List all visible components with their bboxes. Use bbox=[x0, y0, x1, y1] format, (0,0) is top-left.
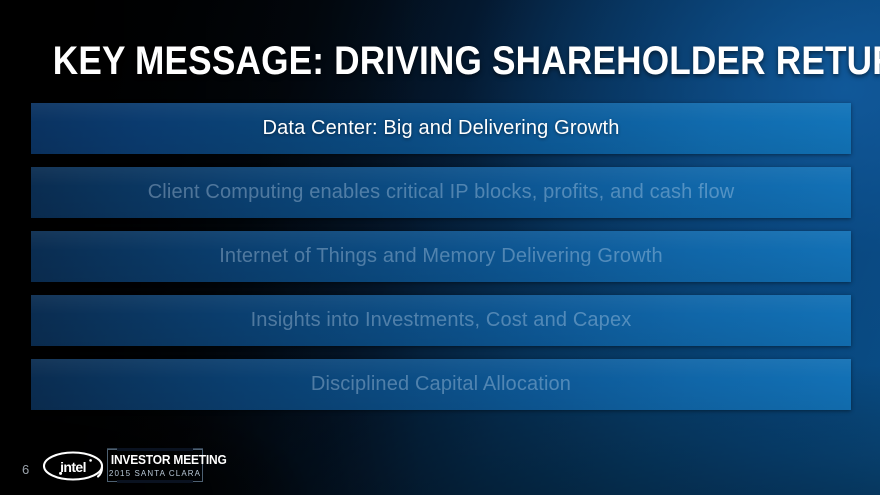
slide-footer: 6 intel INVESTOR MEETING 2015 SANTA CLAR… bbox=[0, 433, 880, 495]
list-item-label: Disciplined Capital Allocation bbox=[311, 373, 571, 396]
svg-text:intel: intel bbox=[60, 459, 86, 475]
list-item-investments-capex[interactable]: Insights into Investments, Cost and Cape… bbox=[31, 295, 851, 346]
page-number: 6 bbox=[22, 462, 29, 477]
key-message-list: Data Center: Big and Delivering Growth C… bbox=[31, 103, 851, 423]
event-badge-border-gap-bottom bbox=[117, 480, 193, 483]
event-subtitle: 2015 SANTA CLARA bbox=[107, 469, 203, 478]
slide-title: KEY MESSAGE: DRIVING SHAREHOLDER RETURN bbox=[53, 38, 827, 84]
list-item-label: Data Center: Big and Delivering Growth bbox=[263, 117, 620, 140]
list-item-capital-allocation[interactable]: Disciplined Capital Allocation bbox=[31, 359, 851, 410]
list-item-label: Client Computing enables critical IP blo… bbox=[148, 181, 735, 204]
list-item-label: Insights into Investments, Cost and Cape… bbox=[251, 309, 632, 332]
list-item-client-computing[interactable]: Client Computing enables critical IP blo… bbox=[31, 167, 851, 218]
list-item-iot-memory[interactable]: Internet of Things and Memory Delivering… bbox=[31, 231, 851, 282]
list-item-label: Internet of Things and Memory Delivering… bbox=[219, 245, 663, 268]
slide-canvas: KEY MESSAGE: DRIVING SHAREHOLDER RETURN … bbox=[0, 0, 880, 495]
list-item-data-center[interactable]: Data Center: Big and Delivering Growth bbox=[31, 103, 851, 154]
event-badge: INVESTOR MEETING 2015 SANTA CLARA bbox=[107, 449, 203, 482]
event-badge-border-gap-top bbox=[117, 448, 193, 451]
event-title: INVESTOR MEETING bbox=[111, 452, 199, 467]
intel-logo-icon: intel bbox=[42, 449, 104, 483]
